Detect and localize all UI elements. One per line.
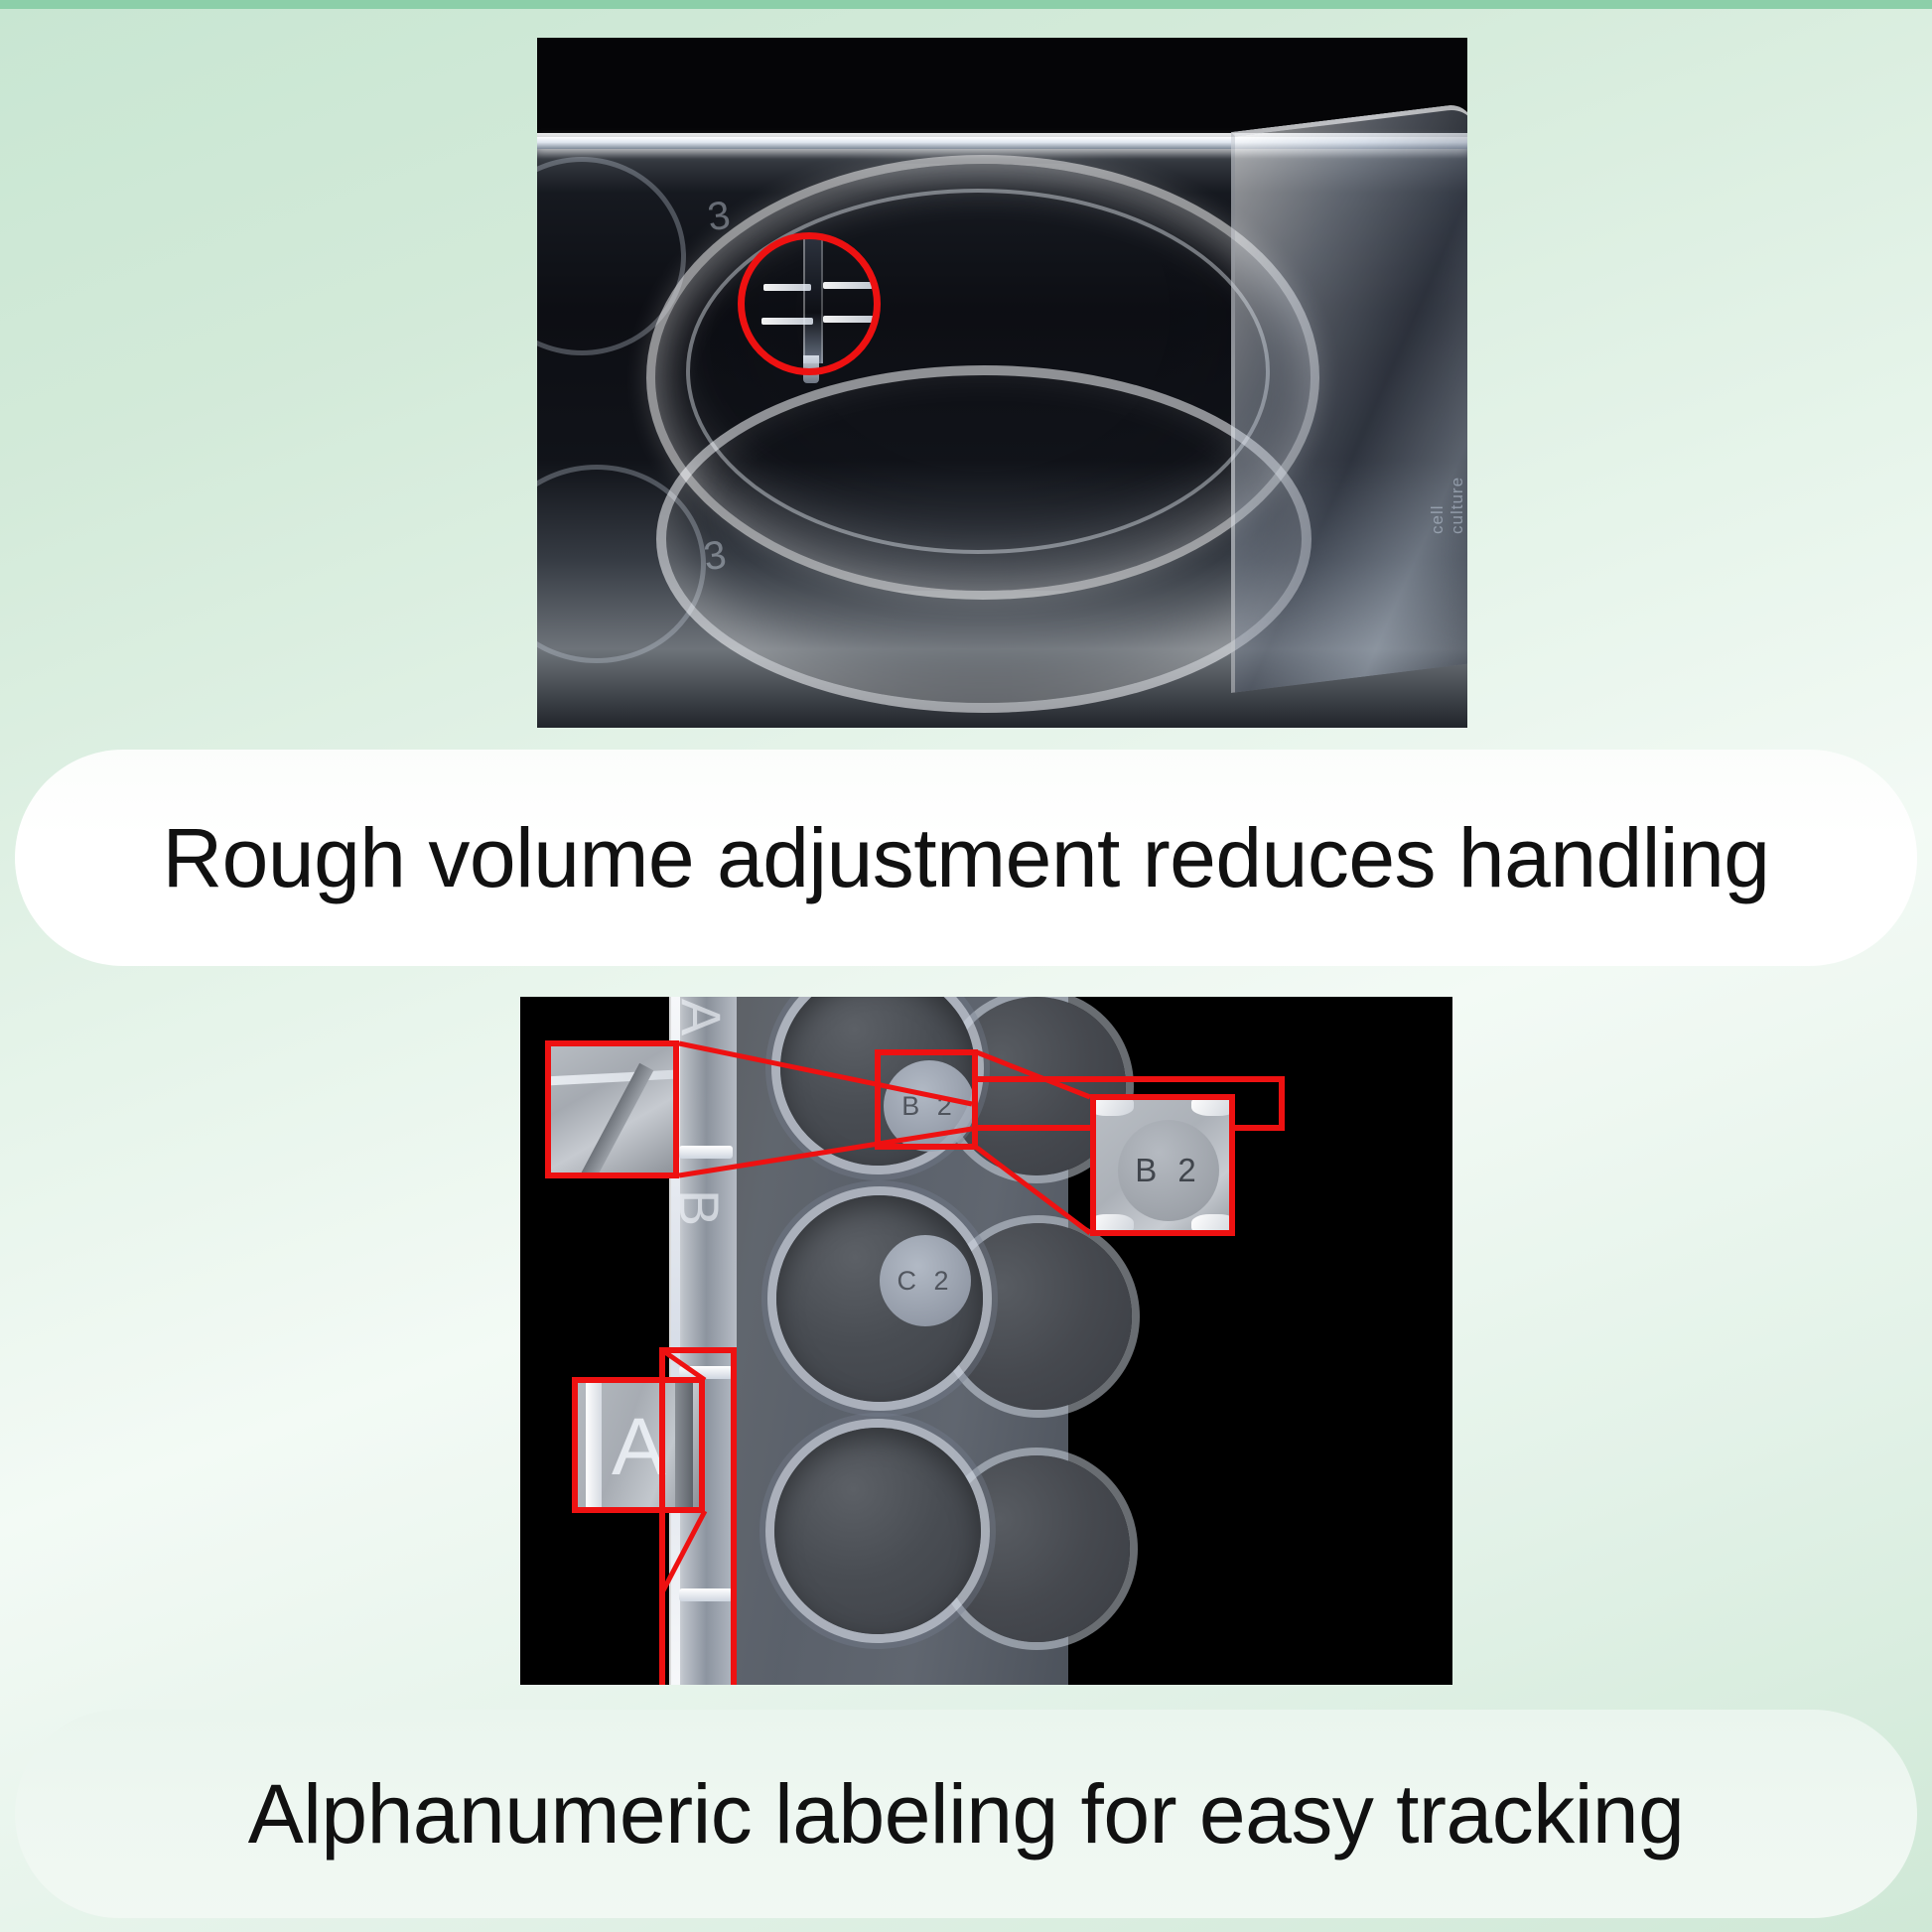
row-letter-b: B [667,1189,732,1226]
inset-edge-line [545,1067,679,1086]
inset-corner-highlight-tl [1090,1094,1134,1116]
inset-well-pad-label: B 2 [1118,1120,1219,1221]
central-well-base-ellipse [656,365,1311,713]
well-c1 [774,1428,981,1634]
plate-corner-shoulder [1231,102,1467,693]
multiwell-plate-top-view-photo: B 2 C 2 A B A [520,997,1452,1685]
caption-card-alphanumeric-labeling: Alphanumeric labeling for easy tracking [15,1710,1917,1918]
callout-inset-well-b2: B 2 [1090,1094,1235,1236]
promo-graphic-page: 3 3 cell culture Rough volume adjustment… [0,0,1932,1932]
row-letter-a: A [669,999,734,1035]
callout-inset-corner-notch [545,1040,679,1178]
top-accent-band [0,0,1932,9]
inset-corner-highlight-tr [1191,1094,1235,1116]
callout-source-left-skirt-rows [659,1347,737,1685]
caption-card-volume-adjustment: Rough volume adjustment reduces handling [15,750,1917,966]
skirt-notch-1 [679,1146,733,1159]
red-circle-annotation [738,232,881,375]
callout-source-well-b2 [875,1049,978,1150]
caption-text-alphanumeric-labeling: Alphanumeric labeling for easy tracking [248,1772,1685,1856]
inset-bevel-highlight [586,1383,602,1507]
multiwell-plate-side-view-photo: 3 3 cell culture [537,38,1467,728]
inset-corner-highlight-bl [1090,1214,1134,1236]
inset-corner-highlight-br [1191,1214,1235,1236]
well-pad-c2: C 2 [880,1235,971,1326]
plate-engraved-text: cell culture [1428,465,1467,534]
inset-row-letter-glyph: A [612,1401,666,1494]
caption-text-volume-adjustment: Rough volume adjustment reduces handling [162,816,1769,899]
